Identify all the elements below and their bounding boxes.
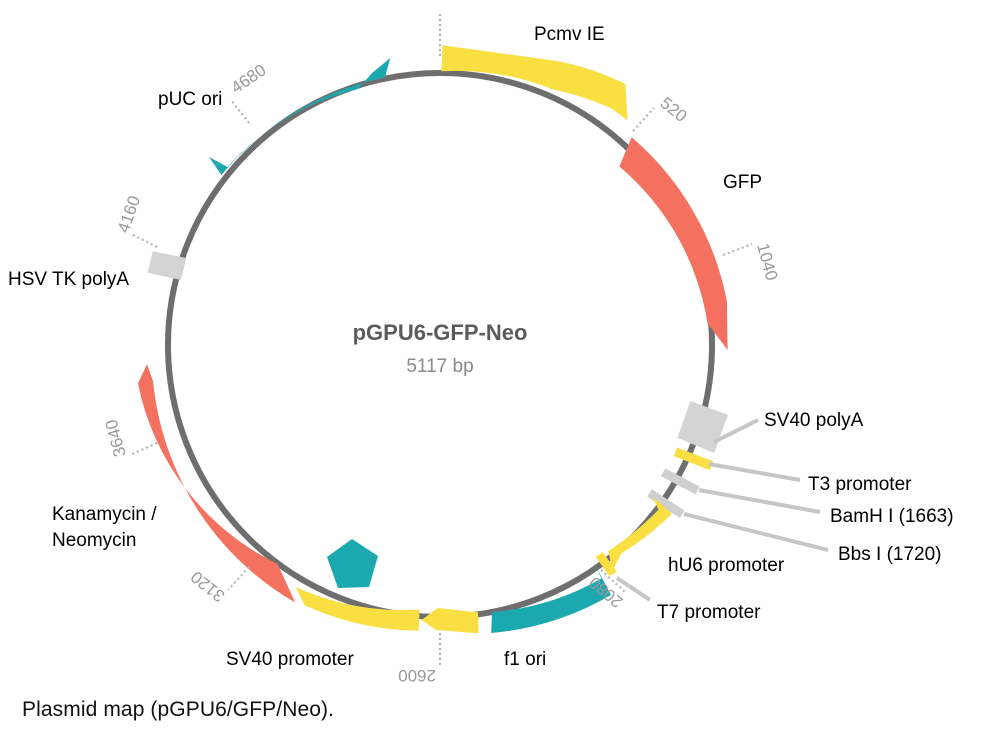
t7-promoter-label: T7 promoter xyxy=(657,602,761,623)
feature-f1-ori[interactable]: f1 ori xyxy=(491,560,611,670)
tick-4160: 4160 xyxy=(114,193,157,247)
bbsi-label: Bbs I (1720) xyxy=(838,544,942,565)
kanamycin-neomycin-arc xyxy=(138,364,295,602)
feature-unlabeled-small-arrow[interactable] xyxy=(422,608,479,633)
tick-4680: 4680 xyxy=(228,60,270,123)
tick-label-3120: 3120 xyxy=(187,567,228,606)
feature-puc-ori[interactable]: pUC ori xyxy=(158,58,390,175)
plasmid-center-subtitle: 5117 bp xyxy=(406,356,473,377)
hu6-promoter-arrow xyxy=(608,497,672,571)
plasmid-center-title: pGPU6-GFP-Neo xyxy=(353,320,528,345)
unlabeled-small-arrow-shape xyxy=(422,608,479,633)
bamhi-leader xyxy=(699,490,820,512)
kanamycin-label-line2: Neomycin xyxy=(52,530,136,551)
feature-t3-promoter[interactable]: T3 promoter xyxy=(674,448,912,496)
tick-520: 520 xyxy=(633,93,690,131)
feature-inner-pentagon-marker[interactable] xyxy=(327,539,378,588)
gfp-label: GFP xyxy=(723,172,762,193)
f1-ori-label: f1 ori xyxy=(504,649,546,670)
feature-sv40-promoter[interactable]: SV40 promoter xyxy=(226,587,420,670)
kanamycin-label-line1: Kanamycin / xyxy=(52,504,157,525)
pcmv-ie-label: Pcmv IE xyxy=(534,24,605,45)
tick-mark-4680 xyxy=(231,100,249,123)
t3-promoter-label: T3 promoter xyxy=(808,474,912,495)
feature-bbsi-site[interactable]: Bbs I (1720) xyxy=(647,489,941,565)
sv40-promoter-arrow xyxy=(296,587,420,631)
puc-ori-label: pUC ori xyxy=(158,89,222,110)
gfp-arc xyxy=(619,137,727,350)
tick-label-520: 520 xyxy=(656,93,690,126)
tick-label-4160: 4160 xyxy=(114,193,144,235)
tick-label-4680: 4680 xyxy=(228,60,270,97)
tick-3640: 3640 xyxy=(102,417,157,458)
tick-2600: 2600 xyxy=(398,633,440,685)
inner-pentagon-shape xyxy=(327,539,378,588)
tick-mark-3120 xyxy=(228,567,249,590)
t3-promoter-leader xyxy=(709,464,800,480)
figure-caption: Plasmid map (pGPU6/GFP/Neo). xyxy=(22,698,334,722)
tick-3120: 3120 xyxy=(187,567,249,606)
feature-gfp[interactable]: GFP xyxy=(619,137,762,350)
tick-mark-4160 xyxy=(131,234,157,247)
tick-label-2600: 2600 xyxy=(398,666,436,685)
sv40-polya-box xyxy=(677,401,727,453)
feature-hu6-promoter[interactable]: hU6 promoter xyxy=(608,497,785,576)
tick-label-1040: 1040 xyxy=(753,241,781,282)
feature-hsv-tk-polya[interactable]: HSV TK polyA xyxy=(8,251,186,290)
bamhi-label: BamH I (1663) xyxy=(830,506,954,527)
tick-1040: 1040 xyxy=(723,241,781,282)
sv40-polya-label: SV40 polyA xyxy=(764,410,864,431)
tick-mark-3640 xyxy=(130,443,157,455)
tick-mark-1040 xyxy=(723,244,752,255)
tick-label-3640: 3640 xyxy=(102,417,130,458)
plasmid-map-canvas: Pcmv IE GFP SV40 polyA T3 promoter BamH … xyxy=(0,0,982,690)
bbsi-leader xyxy=(684,514,828,550)
hsv-tk-polya-label: HSV TK polyA xyxy=(8,269,129,290)
feature-sv40-polya[interactable]: SV40 polyA xyxy=(677,401,863,453)
tick-mark-520 xyxy=(633,108,654,131)
pcmv-ie-segment-2 xyxy=(554,63,628,120)
plasmid-map-figure: Pcmv IE GFP SV40 polyA T3 promoter BamH … xyxy=(0,0,982,690)
hu6-promoter-label: hU6 promoter xyxy=(668,555,785,576)
sv40-promoter-label: SV40 promoter xyxy=(226,649,354,670)
